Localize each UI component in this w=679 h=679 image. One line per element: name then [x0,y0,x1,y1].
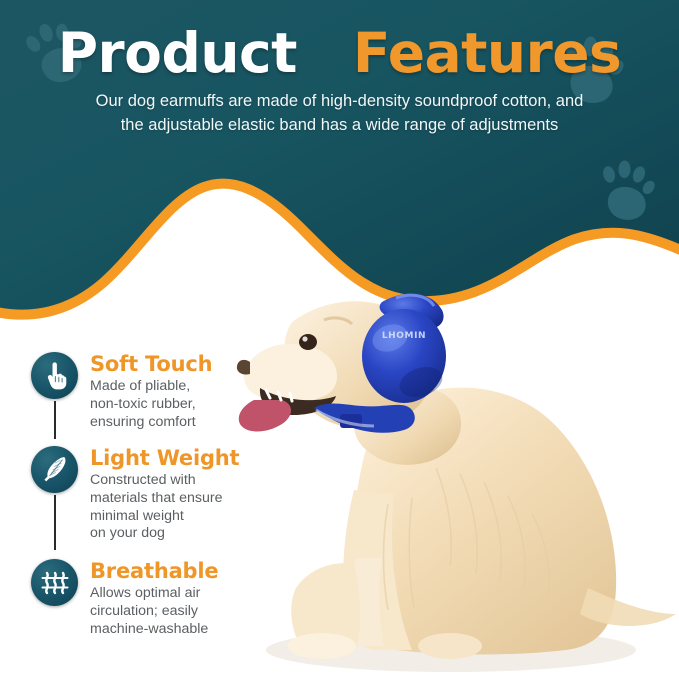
feature-icon-column [26,559,90,606]
feature-text-column: Soft Touch Made of pliable, non-toxic ru… [90,352,212,432]
feature-heading: Breathable [90,560,218,582]
dog-paw-front [288,633,356,659]
feature-item-breathable: Breathable Allows optimal air circulatio… [26,559,286,639]
feature-description: Made of pliable, non-toxic rubber, ensur… [90,378,212,432]
dog-eye-highlight [302,336,307,341]
earmuff-cup: LHOMIN [362,309,446,403]
product-photo-dog-with-earmuffs: LHOMIN [236,258,679,679]
subtitle-line-2: the adjustable elastic band has a wide r… [28,114,651,138]
title-word-features: Features [353,21,621,85]
dog-eye [299,334,317,350]
dog-paw-rear [418,633,482,659]
touch-hand-icon [31,352,78,399]
title-word-product: Product [58,21,297,85]
feature-icon-column [26,446,90,493]
feature-connector-line [54,401,56,439]
header-subtitle: Our dog earmuffs are made of high-densit… [28,90,651,138]
feather-icon [31,446,78,493]
feature-item-soft-touch: Soft Touch Made of pliable, non-toxic ru… [26,352,286,432]
feature-heading: Soft Touch [90,353,212,375]
feature-list: Soft Touch Made of pliable, non-toxic ru… [26,352,286,649]
feature-connector-line [54,495,56,550]
page-title: Product Features [0,26,679,81]
feature-description: Constructed with materials that ensure m… [90,472,239,544]
feature-text-column: Breathable Allows optimal air circulatio… [90,559,218,639]
dog-tail [580,588,676,626]
feature-description: Allows optimal air circulation; easily m… [90,585,218,639]
subtitle-line-1: Our dog earmuffs are made of high-densit… [28,90,651,114]
earmuff-brand-text: LHOMIN [382,331,426,341]
feature-item-light-weight: Light Weight Constructed with materials … [26,446,286,544]
feature-text-column: Light Weight Constructed with materials … [90,446,239,544]
product-features-infographic: Product Features Our dog earmuffs are ma… [0,0,679,679]
feature-heading: Light Weight [90,447,239,469]
airflow-breathable-icon [31,559,78,606]
feature-icon-column [26,352,90,399]
